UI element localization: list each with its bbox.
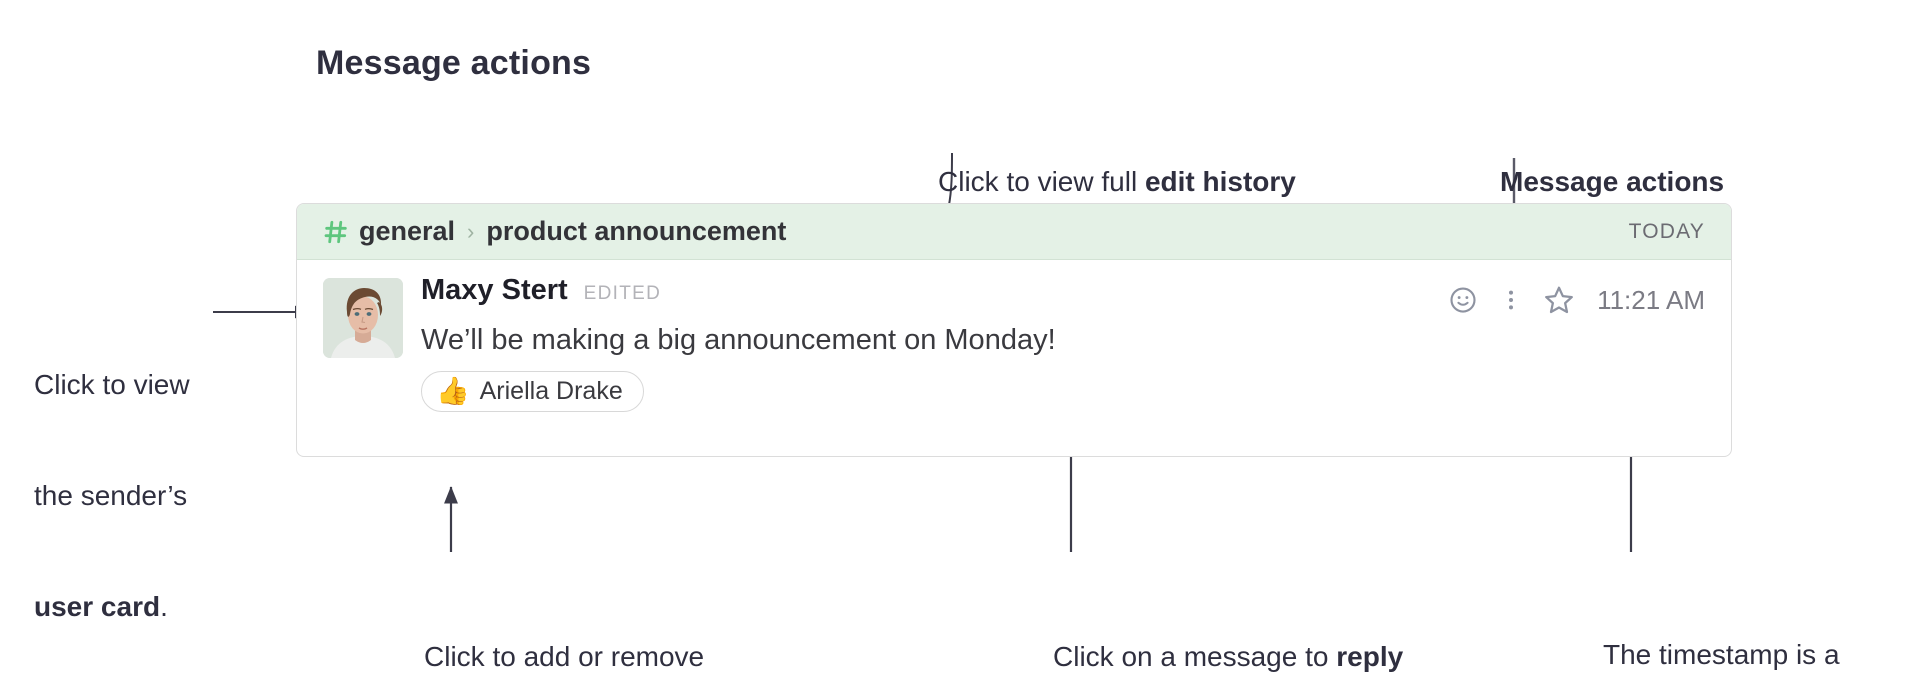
breadcrumb-stream[interactable]: general (359, 216, 455, 247)
page-title: Message actions (316, 44, 591, 83)
sender-name[interactable]: Maxy Stert (421, 274, 568, 307)
reaction-chip[interactable]: 👍 Ariella Drake (421, 371, 644, 412)
message-card: general › product announcement TODAY (296, 203, 1732, 457)
message-actions-menu-icon[interactable] (1487, 280, 1535, 320)
annotation-line: The timestamp is a (1603, 636, 1863, 673)
annotation-timestamp-link: The timestamp is a link to the message (… (1603, 562, 1863, 696)
annotation-line: Click to add or remove (424, 638, 704, 676)
message-timestamp[interactable]: 11:21 AM (1597, 285, 1705, 316)
star-icon[interactable] (1535, 280, 1583, 320)
date-label: TODAY (1629, 220, 1705, 244)
annotation-line: user card. (34, 588, 234, 625)
thumbs-up-emoji: 👍 (436, 378, 470, 405)
annotation-line: Click to view (34, 366, 234, 403)
stream-topic-header: general › product announcement TODAY (297, 204, 1731, 260)
user-avatar-photo (323, 278, 403, 358)
annotation-user-card: Click to view the sender’s user card. (34, 292, 234, 696)
breadcrumb-topic[interactable]: product announcement (486, 216, 786, 247)
annotation-line: Click on a message to reply (1053, 638, 1403, 676)
message-row[interactable]: Maxy Stert EDITED We’ll be making a big … (297, 260, 1731, 412)
hash-icon[interactable] (323, 219, 349, 245)
emoji-reaction-icon[interactable] (1439, 280, 1487, 320)
chevron-right-icon: › (467, 219, 474, 245)
message-body[interactable]: We’ll be making a big announcement on Mo… (421, 321, 1705, 359)
diagram-canvas: Message actions Click to view the sender… (0, 0, 1924, 696)
message-action-icons: 11:21 AM (1439, 280, 1705, 320)
annotation-line: Click to view full edit history (938, 163, 1296, 201)
reaction-user-label: Ariella Drake (480, 377, 623, 406)
edited-flag[interactable]: EDITED (584, 283, 661, 305)
annotation-emoji-reactions: Click to add or remove emoji reactions. (424, 562, 704, 696)
avatar[interactable] (323, 278, 403, 358)
annotation-reply: Click on a message to reply to the same … (1053, 562, 1403, 696)
annotation-line: Message actions (1500, 163, 1724, 201)
annotation-line: the sender’s (34, 477, 234, 514)
reactions-row: 👍 Ariella Drake (421, 371, 1705, 412)
